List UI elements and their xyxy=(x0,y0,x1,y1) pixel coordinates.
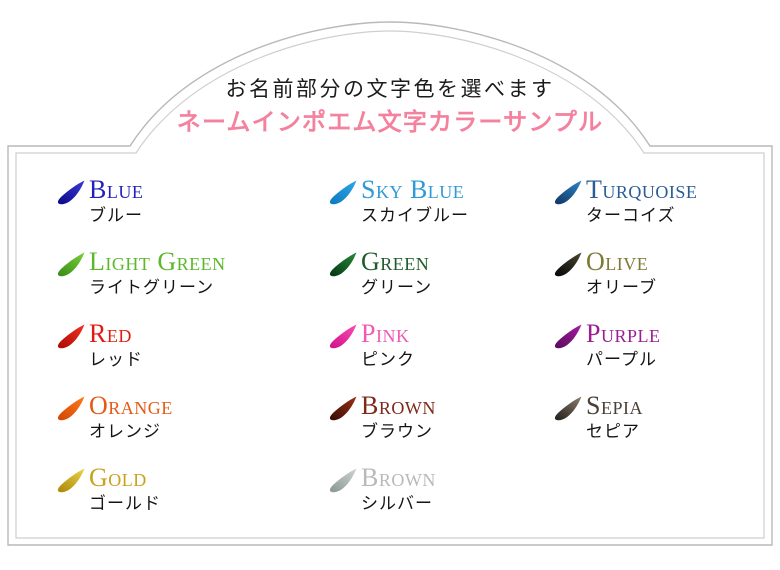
color-row: BlueブルーSky BlueスカイブルーTurquoiseターコイズ xyxy=(56,176,756,248)
color-name-jp: ピンク xyxy=(361,348,415,372)
color-labels: Blueブルー xyxy=(89,176,143,228)
color-row: GoldゴールドBrownシルバー xyxy=(56,464,756,536)
brush-stroke-icon xyxy=(328,466,358,494)
color-labels: Orangeオレンジ xyxy=(89,392,173,444)
color-option-オレンジ[interactable]: Orangeオレンジ xyxy=(56,392,328,464)
color-labels: Pinkピンク xyxy=(361,320,415,372)
color-swatch-grid: BlueブルーSky BlueスカイブルーTurquoiseターコイズLight… xyxy=(56,176,756,536)
color-labels: Purpleパープル xyxy=(586,320,660,372)
color-name-en: Sky Blue xyxy=(361,176,469,203)
color-sample-page: お名前部分の文字色を選べます ネームインポエム文字カラーサンプル Blueブルー… xyxy=(0,0,780,570)
color-labels: Oliveオリーブ xyxy=(586,248,657,300)
color-name-en: Red xyxy=(89,320,143,347)
color-name-jp: ターコイズ xyxy=(586,204,697,228)
color-labels: Sepiaセピア xyxy=(586,392,643,444)
color-option-ピンク[interactable]: Pinkピンク xyxy=(328,320,553,392)
color-row: Light GreenライトグリーンGreenグリーンOliveオリーブ xyxy=(56,248,756,320)
color-row: OrangeオレンジBrownブラウンSepiaセピア xyxy=(56,392,756,464)
color-labels: Sky Blueスカイブルー xyxy=(361,176,469,228)
color-name-en: Orange xyxy=(89,392,173,419)
color-name-en: Green xyxy=(361,248,432,275)
color-labels: Brownブラウン xyxy=(361,392,436,444)
color-option-シルバー[interactable]: Brownシルバー xyxy=(328,464,553,536)
color-name-jp: シルバー xyxy=(361,492,436,516)
header-block: お名前部分の文字色を選べます ネームインポエム文字カラーサンプル xyxy=(0,76,780,138)
color-option-グリーン[interactable]: Greenグリーン xyxy=(328,248,553,320)
color-name-en: Gold xyxy=(89,464,161,491)
color-option-ライトグリーン[interactable]: Light Greenライトグリーン xyxy=(56,248,328,320)
header-subtitle: お名前部分の文字色を選べます xyxy=(0,76,780,102)
color-name-jp: ブルー xyxy=(89,204,143,228)
brush-stroke-icon xyxy=(56,466,86,494)
color-name-en: Brown xyxy=(361,392,436,419)
color-option-セピア[interactable]: Sepiaセピア xyxy=(553,392,756,464)
color-option-レッド[interactable]: Redレッド xyxy=(56,320,328,392)
color-name-jp: パープル xyxy=(586,348,660,372)
color-option-オリーブ[interactable]: Oliveオリーブ xyxy=(553,248,756,320)
color-name-en: Sepia xyxy=(586,392,643,419)
color-labels: Goldゴールド xyxy=(89,464,161,516)
brush-stroke-icon xyxy=(56,322,86,350)
header-title: ネームインポエム文字カラーサンプル xyxy=(0,109,780,138)
color-name-jp: ゴールド xyxy=(89,492,161,516)
color-name-jp: スカイブルー xyxy=(361,204,469,228)
color-labels: Greenグリーン xyxy=(361,248,432,300)
brush-stroke-icon xyxy=(328,322,358,350)
brush-stroke-icon xyxy=(553,178,583,206)
brush-stroke-icon xyxy=(56,394,86,422)
brush-stroke-icon xyxy=(328,178,358,206)
brush-stroke-icon xyxy=(553,394,583,422)
color-name-jp: グリーン xyxy=(361,276,432,300)
brush-stroke-icon xyxy=(56,250,86,278)
color-labels: Brownシルバー xyxy=(361,464,436,516)
color-labels: Redレッド xyxy=(89,320,143,372)
color-name-en: Turquoise xyxy=(586,176,697,203)
color-name-en: Purple xyxy=(586,320,660,347)
color-labels: Light Greenライトグリーン xyxy=(89,248,226,300)
color-name-jp: レッド xyxy=(89,348,143,372)
color-name-en: Blue xyxy=(89,176,143,203)
color-name-jp: オレンジ xyxy=(89,420,173,444)
color-option-スカイブルー[interactable]: Sky Blueスカイブルー xyxy=(328,176,553,248)
brush-stroke-icon xyxy=(553,322,583,350)
color-option-パープル[interactable]: Purpleパープル xyxy=(553,320,756,392)
color-name-jp: ライトグリーン xyxy=(89,276,226,300)
color-name-jp: オリーブ xyxy=(586,276,657,300)
color-name-en: Brown xyxy=(361,464,436,491)
color-name-en: Light Green xyxy=(89,248,226,275)
color-name-jp: セピア xyxy=(586,420,643,444)
color-option-ブルー[interactable]: Blueブルー xyxy=(56,176,328,248)
brush-stroke-icon xyxy=(328,250,358,278)
color-option-ターコイズ[interactable]: Turquoiseターコイズ xyxy=(553,176,756,248)
brush-stroke-icon xyxy=(56,178,86,206)
color-option-ブラウン[interactable]: Brownブラウン xyxy=(328,392,553,464)
color-labels: Turquoiseターコイズ xyxy=(586,176,697,228)
color-name-jp: ブラウン xyxy=(361,420,436,444)
brush-stroke-icon xyxy=(553,250,583,278)
color-name-en: Olive xyxy=(586,248,657,275)
color-row: RedレッドPinkピンクPurpleパープル xyxy=(56,320,756,392)
color-option-ゴールド[interactable]: Goldゴールド xyxy=(56,464,328,536)
color-name-en: Pink xyxy=(361,320,415,347)
brush-stroke-icon xyxy=(328,394,358,422)
